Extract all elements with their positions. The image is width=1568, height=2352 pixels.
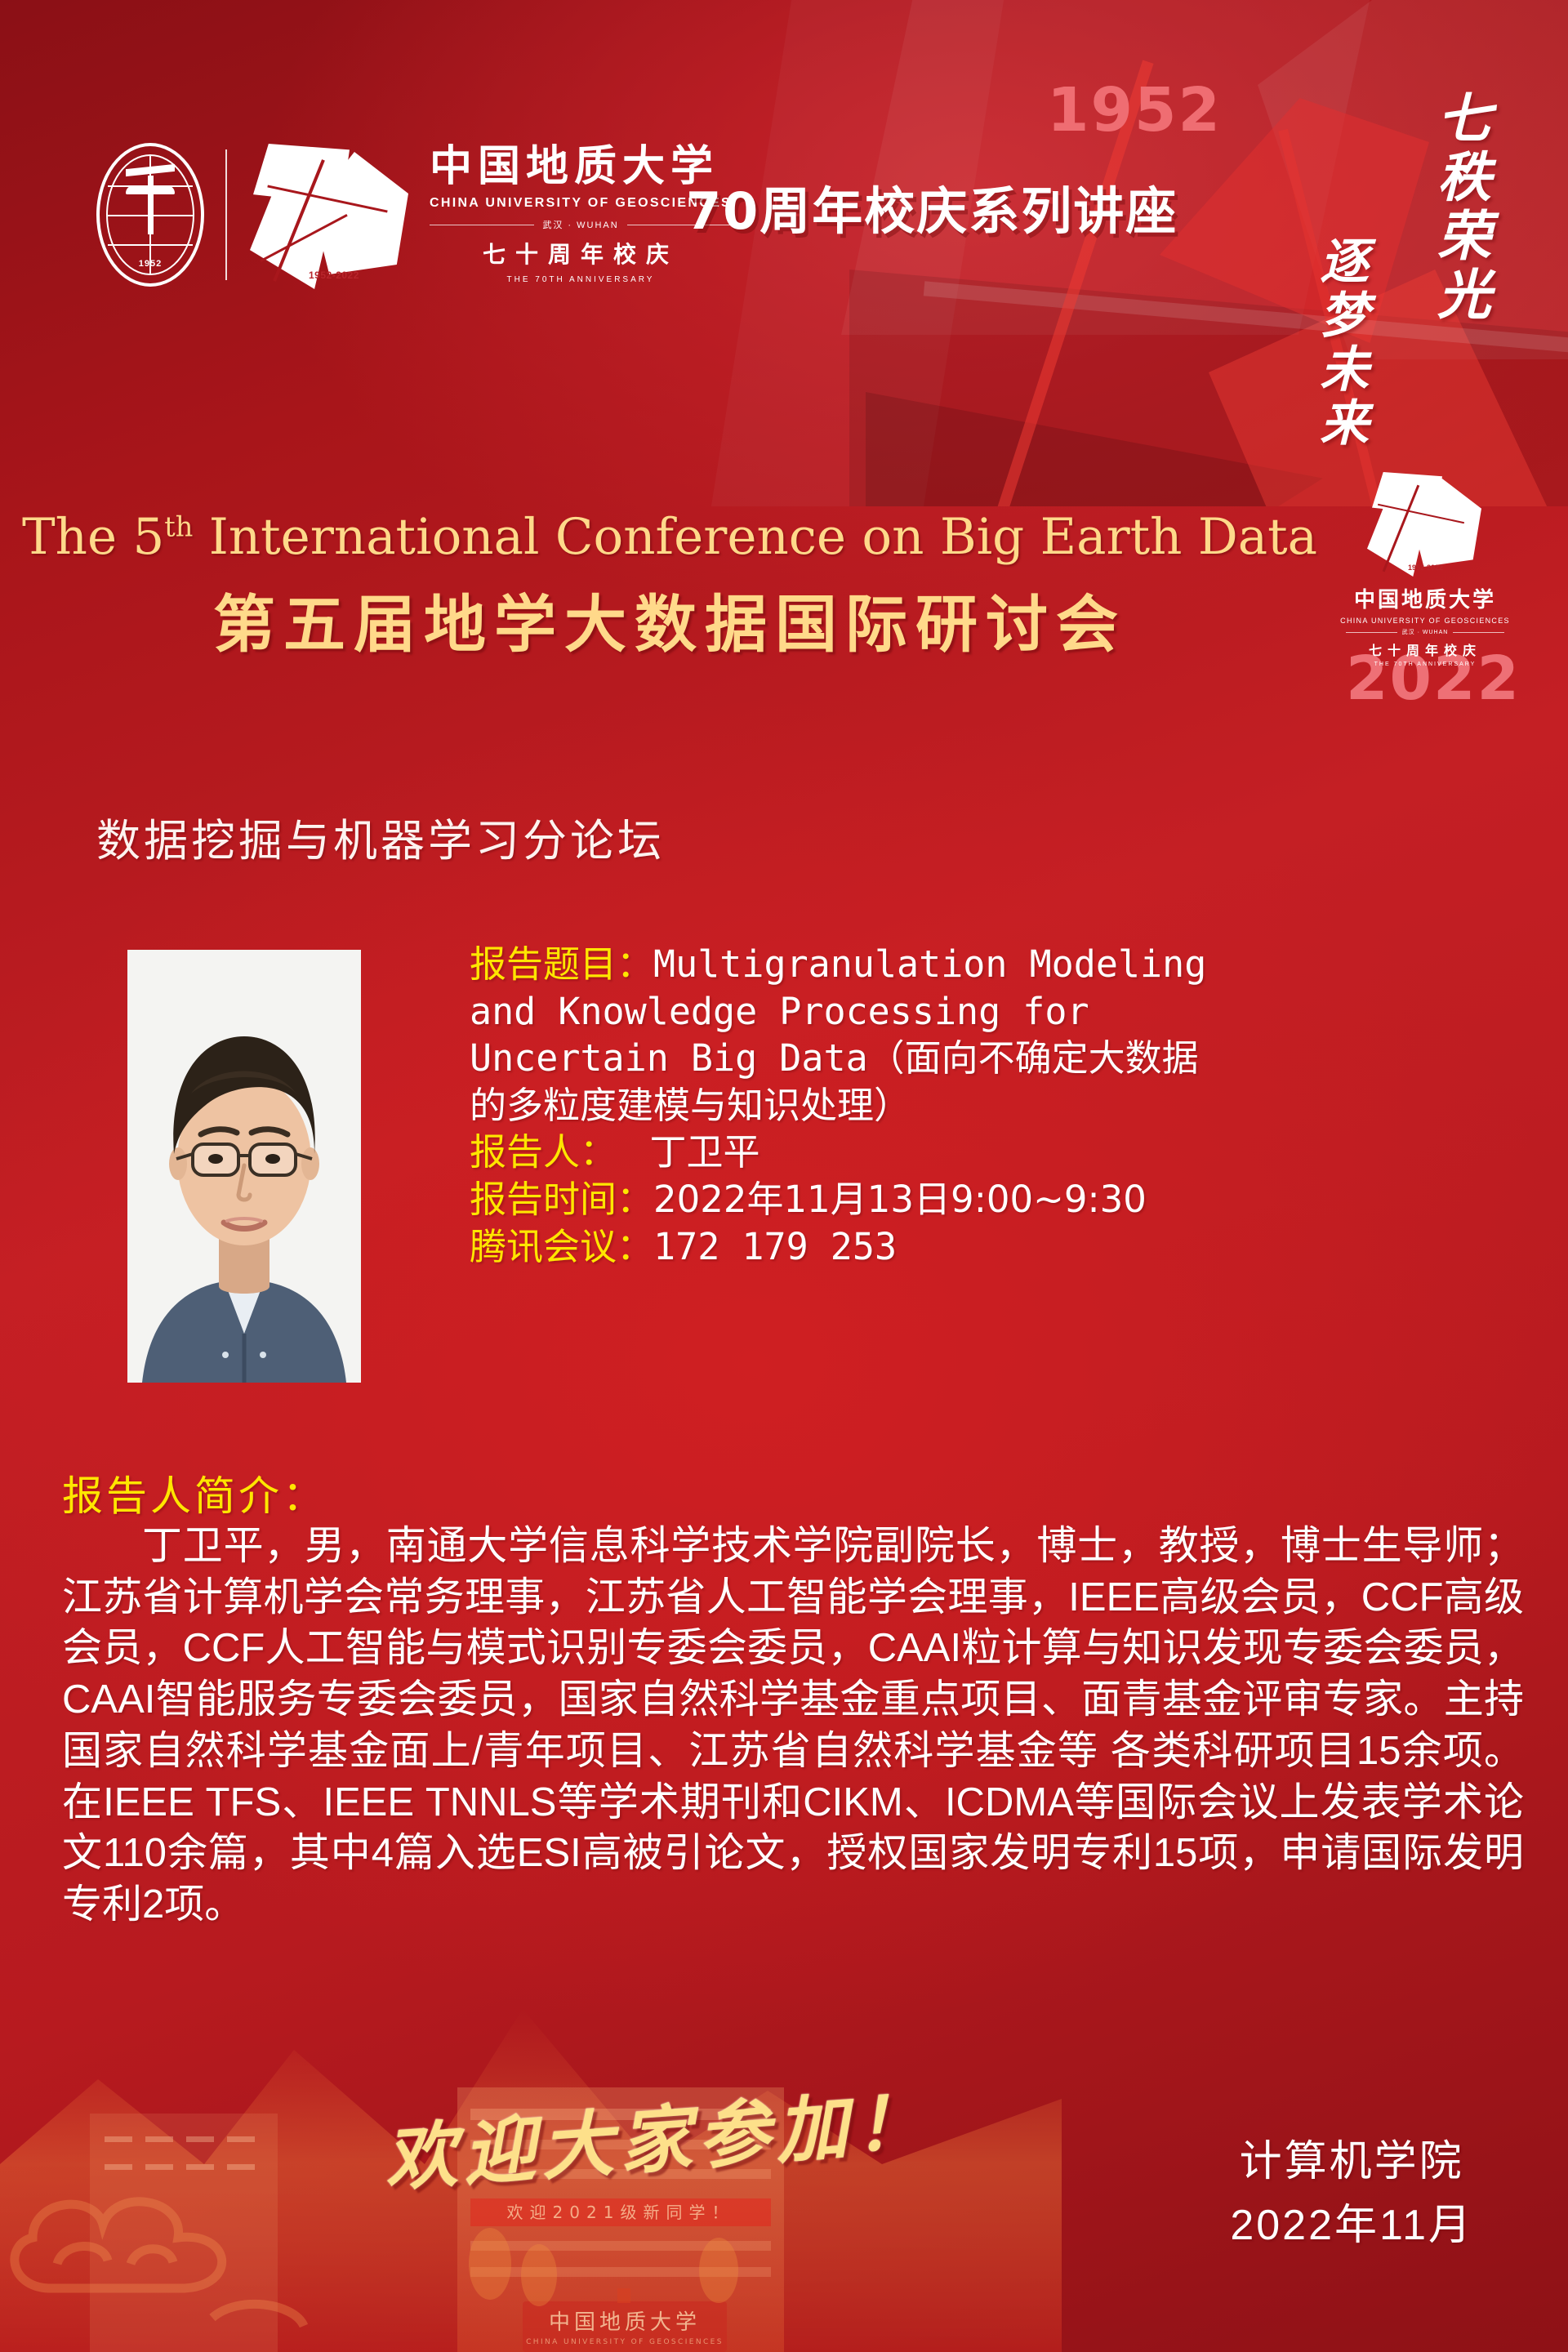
- conference-title-en-sup: th: [164, 511, 193, 543]
- speaker-portrait: [127, 950, 361, 1383]
- seal-year: 1952: [96, 259, 204, 269]
- conference-title-en-pre: The 5: [22, 508, 164, 566]
- time-row: 报告时间：2022年11月13日9:00~9:30: [470, 1176, 1531, 1223]
- talk-title-label: 报告题目：: [470, 942, 653, 986]
- speaker-row: 报告人：丁卫平: [470, 1129, 1531, 1176]
- conference-title-en: The 5th International Conference on Big …: [0, 508, 1339, 566]
- meeting-label: 腾讯会议：: [470, 1225, 653, 1268]
- bio-text: 丁卫平，男，南通大学信息科学技术学院副院长，博士，教授，博士生导师；江苏省计算机…: [62, 1521, 1524, 1931]
- talk-title-line2-row: and Knowledge Processing for: [470, 988, 1531, 1036]
- meeting-row: 腾讯会议：172 179 253: [470, 1223, 1531, 1271]
- signoff-date: 2022年11月: [1230, 2194, 1473, 2257]
- university-seal-icon: 1952: [96, 143, 204, 287]
- mark-years: 1952-2022: [309, 269, 359, 281]
- talk-details: 报告题目：Multigranulation Modeling and Knowl…: [470, 941, 1531, 1270]
- deco-banner-text: 欢迎2021级新同学！: [507, 2203, 735, 2222]
- talk-title-row: 报告题目：Multigranulation Modeling: [470, 941, 1531, 988]
- emblem-anniv-en: THE 70TH ANNIVERSARY: [1339, 661, 1511, 667]
- signoff-block: 计算机学院 2022年11月: [1230, 2130, 1473, 2257]
- conference-title-cn: 第五届地学大数据国际研讨会: [0, 574, 1339, 664]
- emblem-anniv-cn: 七十周年校庆: [1339, 639, 1511, 659]
- time-value: 2022年11月13日9:00~9:30: [653, 1178, 1147, 1221]
- conference-title-en-post: International Conference on Big Earth Da…: [193, 508, 1317, 566]
- university-logo-lockup: 1952 1952-2022 中国地质大学 CHINA UNIVERSITY O…: [96, 139, 732, 291]
- speaker-name: 丁卫平: [650, 1130, 760, 1174]
- lecture-series-title: 70周年校庆系列讲座: [686, 170, 1178, 243]
- talk-title-line1: Multigranulation Modeling: [653, 942, 1206, 986]
- seventy-glyph-icon: 1952-2022: [248, 139, 412, 291]
- emblem-name-en: CHINA UNIVERSITY OF GEOSCIENCES: [1339, 617, 1511, 625]
- emblem-seventy-icon: 1952-2022: [1364, 470, 1486, 578]
- emblem-years: 1952-2022: [1408, 563, 1443, 572]
- forum-name: 数据挖掘与机器学习分论坛: [96, 804, 665, 869]
- deco-building-label: 中国地质大学: [549, 2310, 701, 2335]
- emblem-name-cn: 中国地质大学: [1339, 583, 1511, 613]
- talk-title-line4-row: 的多粒度建模与知识处理）: [470, 1082, 1531, 1129]
- time-label: 报告时间：: [470, 1178, 653, 1221]
- year-1952: 1952: [1047, 75, 1222, 145]
- conference-title-block: The 5th International Conference on Big …: [0, 508, 1339, 664]
- talk-title-line3-row: Uncertain Big Data（面向不确定大数据: [470, 1035, 1531, 1082]
- deco-building-label-en: CHINA UNIVERSITY OF GEOSCIENCES: [526, 2338, 724, 2346]
- calligraphy-zhumeng-weilai: 逐梦未来: [1313, 235, 1365, 451]
- anniversary-mark: 1952-2022 中国地质大学 CHINA UNIVERSITY OF GEO…: [248, 139, 732, 291]
- bio-heading: 报告人简介：: [62, 1463, 327, 1522]
- calligraphy-qizhi-rongguang: 七秩荣光: [1431, 90, 1488, 325]
- speaker-label: 报告人：: [470, 1130, 617, 1174]
- anniversary-emblem: 1952-2022 中国地质大学 CHINA UNIVERSITY OF GEO…: [1339, 470, 1511, 667]
- logo-divider: [225, 149, 227, 280]
- wordmark-campus: 武汉 · WUHAN: [542, 218, 618, 231]
- poster-root: 1952 1952 1952-2022 中国地质大学 CHINA UNIVERS…: [0, 0, 1568, 2352]
- meeting-id: 172 179 253: [653, 1225, 897, 1268]
- wordmark-anniv-en: THE 70TH ANNIVERSARY: [430, 275, 732, 284]
- organizer-name: 计算机学院: [1230, 2130, 1473, 2194]
- emblem-campus: 武汉 · WUHAN: [1402, 628, 1449, 636]
